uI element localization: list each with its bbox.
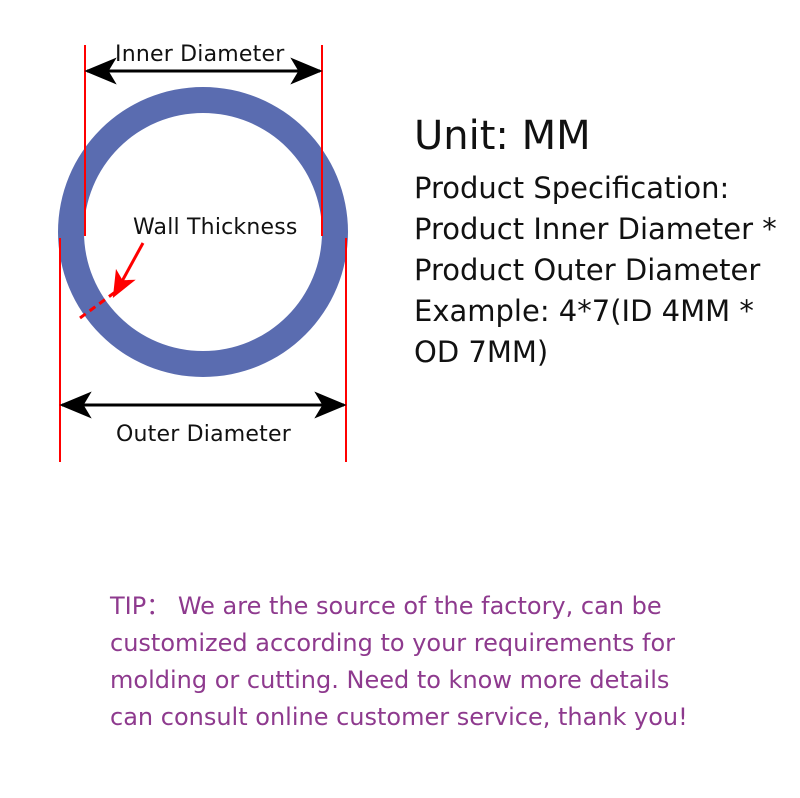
tip-block: TIP： We are the source of the factory, c…: [110, 588, 710, 736]
outer-diameter-label: Outer Diameter: [116, 424, 291, 446]
unit-heading: Unit: MM: [414, 112, 796, 160]
spec-line-5: OD 7MM): [414, 332, 796, 373]
wall-thickness-label: Wall Thickness: [133, 217, 298, 239]
ring-diagram: [0, 0, 400, 480]
spec-line-3: Product Outer Diameter: [414, 250, 796, 291]
spec-line-2: Product Inner Diameter *: [414, 209, 796, 250]
inner-diameter-label: Inner Diameter: [115, 44, 284, 66]
tip-line-2: customized according to your requirement…: [110, 625, 710, 662]
specification-block: Unit: MM Product Specification: Product …: [414, 112, 796, 373]
tip-line-1: TIP： We are the source of the factory, c…: [110, 588, 710, 625]
tip-line-3: molding or cutting. Need to know more de…: [110, 662, 710, 699]
diagram-page: Inner Diameter Wall Thickness Outer Diam…: [0, 0, 800, 798]
wall-thickness-leader-arrow: [115, 243, 143, 294]
spec-line-4: Example: 4*7(ID 4MM *: [414, 291, 796, 332]
spec-line-1: Product Specification:: [414, 168, 796, 209]
tip-line-4: can consult online customer service, tha…: [110, 699, 710, 736]
